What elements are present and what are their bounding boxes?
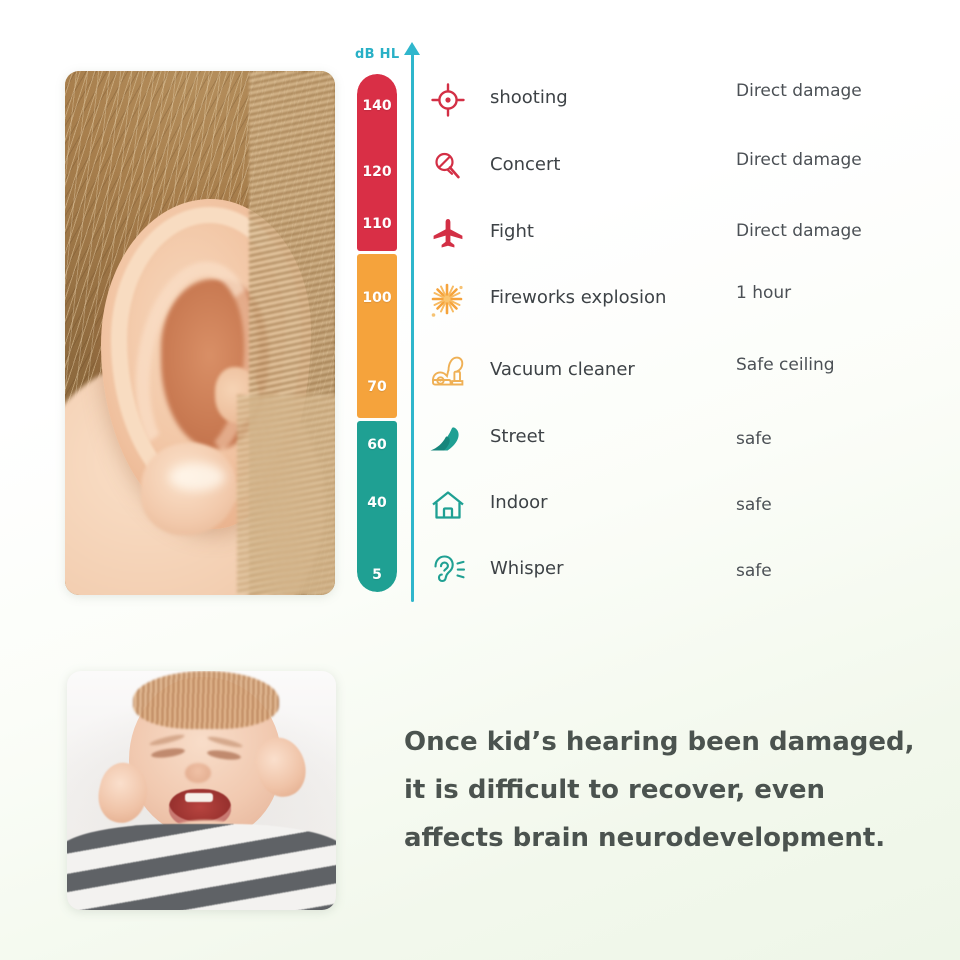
db-tick-110: 110 <box>357 216 397 232</box>
list-item-fight: Fight Direct damage <box>426 212 936 256</box>
noise-source-list: shooting Direct damage Concert Direct da… <box>426 72 936 612</box>
noise-source-label: Fight <box>490 221 534 242</box>
list-item-fireworks: Fireworks explosion 1 hour <box>426 278 936 322</box>
crying-baby-photo <box>67 671 336 910</box>
noise-source-label: Fireworks explosion <box>490 287 666 308</box>
noise-effect-label: safe <box>736 429 772 449</box>
db-scale-bar: 140 120 110 100 70 60 40 5 <box>357 74 397 592</box>
noise-effect-label: Direct damage <box>736 221 862 241</box>
db-tick-100: 100 <box>357 290 397 306</box>
ear-photo-highlight <box>169 463 225 491</box>
airplane-icon <box>426 212 470 256</box>
db-unit-label: dB HL <box>355 47 399 62</box>
db-tick-140: 140 <box>357 98 397 114</box>
list-item-concert: Concert Direct damage <box>426 145 936 189</box>
caption-line-3: affects brain neurodevelopment. <box>404 814 904 862</box>
microphone-no-icon <box>426 145 470 189</box>
ear-listening-icon <box>426 549 470 593</box>
crosshair-target-icon <box>426 78 470 122</box>
baby-photo-nose <box>185 763 211 783</box>
db-tick-70: 70 <box>357 379 397 395</box>
caption-block: Once kid’s hearing been damaged, it is d… <box>404 718 904 862</box>
firework-burst-icon <box>426 278 470 322</box>
list-item-whisper: Whisper safe <box>426 549 936 593</box>
db-tick-5: 5 <box>357 567 397 583</box>
noise-effect-label: safe <box>736 561 772 581</box>
ear-photo <box>65 71 335 595</box>
baby-photo-striped-shirt <box>67 824 336 910</box>
vacuum-cleaner-icon <box>426 350 470 394</box>
noise-source-label: shooting <box>490 87 568 108</box>
noise-source-label: Concert <box>490 154 560 175</box>
list-item-street: Street safe <box>426 417 936 461</box>
list-item-vacuum: Vacuum cleaner Safe ceiling <box>426 350 936 394</box>
noise-source-label: Indoor <box>490 492 548 513</box>
db-tick-60: 60 <box>357 437 397 453</box>
poster-root: dB HL 140 120 110 100 70 60 40 5 <box>0 0 960 960</box>
axis-line <box>411 50 414 602</box>
noise-effect-label: Safe ceiling <box>736 355 835 375</box>
noise-source-label: Whisper <box>490 558 564 579</box>
noise-source-label: Street <box>490 426 545 447</box>
house-icon <box>426 483 470 527</box>
list-item-shooting: shooting Direct damage <box>426 78 936 122</box>
ear-photo-lower-hair <box>237 395 335 595</box>
baby-photo-tooth <box>185 793 213 802</box>
noise-effect-label: safe <box>736 495 772 515</box>
list-item-indoor: Indoor safe <box>426 483 936 527</box>
noise-source-label: Vacuum cleaner <box>490 359 635 380</box>
noise-effect-label: Direct damage <box>736 81 862 101</box>
noise-effect-label: 1 hour <box>736 283 791 303</box>
db-scale: dB HL 140 120 110 100 70 60 40 5 <box>349 40 409 600</box>
db-tick-40: 40 <box>357 495 397 511</box>
db-tick-120: 120 <box>357 164 397 180</box>
road-street-icon <box>426 417 470 461</box>
caption-line-2: it is difficult to recover, even <box>404 766 904 814</box>
caption-line-1: Once kid’s hearing been damaged, <box>404 718 904 766</box>
noise-effect-label: Direct damage <box>736 150 862 170</box>
baby-photo-hair <box>133 671 279 729</box>
